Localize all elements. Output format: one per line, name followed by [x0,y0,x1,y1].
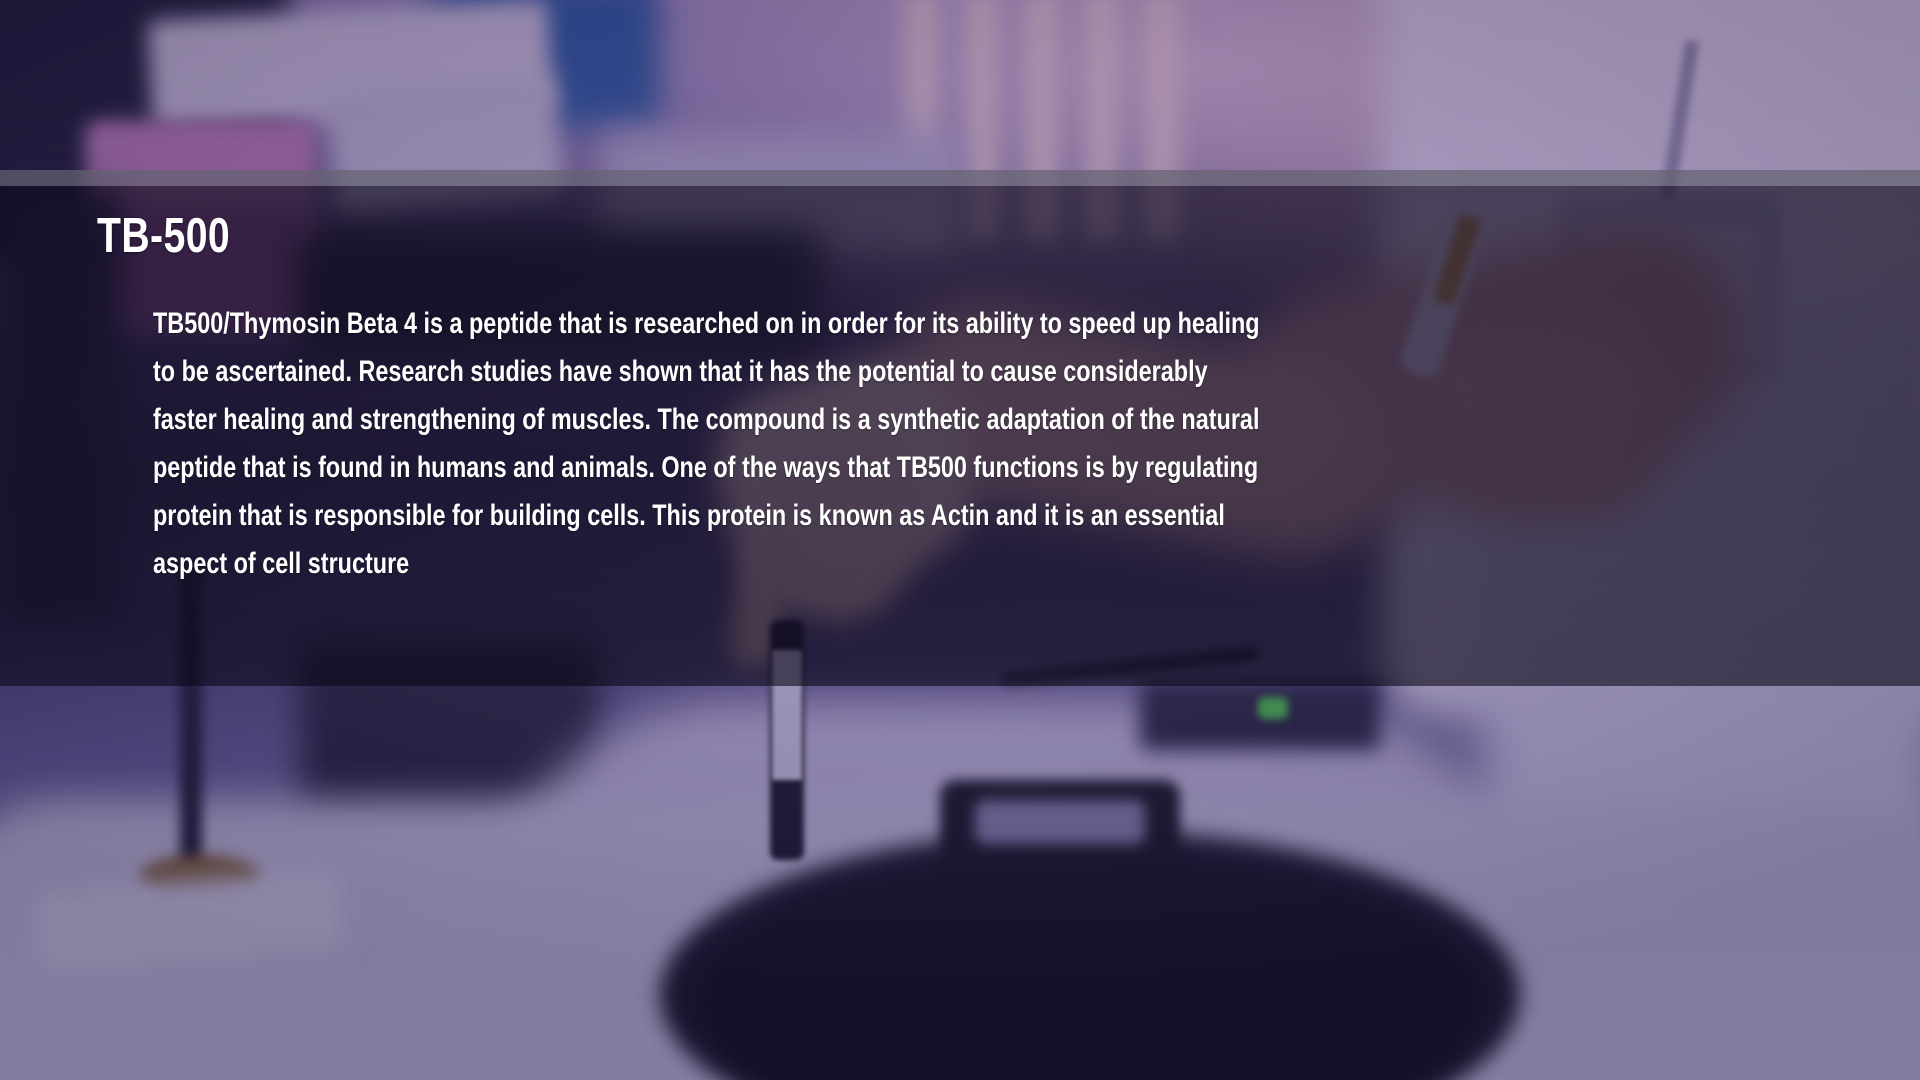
description-line: protein that is responsible for building… [153,492,1260,540]
page-title: TB-500 [97,212,230,261]
description-line: to be ascertained. Research studies have… [153,348,1260,396]
promo-card-stage: TB-500 TB500/Thymosin Beta 4 is a peptid… [0,0,1920,1080]
overlay-top-highlight-strip [0,170,1920,186]
description-line: faster healing and strengthening of musc… [153,396,1260,444]
description-line: aspect of cell structure [153,540,1260,588]
description-paragraph: TB500/Thymosin Beta 4 is a peptide that … [153,300,1260,588]
description-line: TB500/Thymosin Beta 4 is a peptide that … [153,300,1260,348]
description-line: peptide that is found in humans and anim… [153,444,1260,492]
